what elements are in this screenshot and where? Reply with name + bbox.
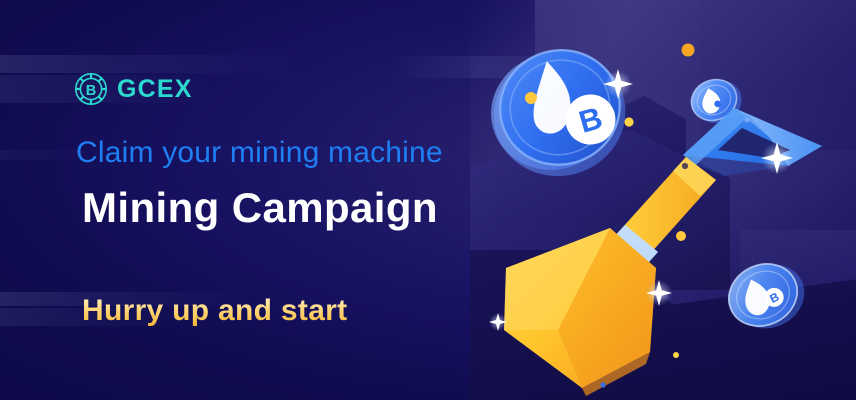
headline-eyebrow: Claim your mining machine bbox=[76, 136, 443, 170]
brand-lockup: B GCEX bbox=[74, 72, 193, 106]
accent-dot bbox=[682, 44, 695, 57]
sparkle-icon bbox=[761, 142, 793, 174]
large-bitcoin-coin: B bbox=[477, 35, 640, 192]
small-bitcoin-coin-bottom: B bbox=[718, 250, 815, 342]
brand-name: GCEX bbox=[117, 77, 193, 102]
page-title: Mining Campaign bbox=[82, 184, 438, 232]
accent-dot bbox=[525, 92, 537, 104]
mining-campaign-banner: B GCEX Claim your mining machine Mining … bbox=[0, 0, 856, 400]
sparkle-icon bbox=[489, 313, 507, 331]
headline-cta-text: Hurry up and start bbox=[82, 294, 347, 328]
mining-shovel-illustration: B B bbox=[470, 0, 856, 400]
shovel-blade bbox=[504, 228, 656, 396]
accent-dot bbox=[673, 352, 679, 358]
accent-dot bbox=[676, 231, 686, 241]
bitcoin-coin-icon: B bbox=[74, 72, 108, 106]
accent-dot bbox=[624, 117, 633, 126]
svg-text:B: B bbox=[86, 83, 96, 99]
background-light-band bbox=[0, 55, 300, 73]
sparkle-icon bbox=[646, 280, 672, 306]
accent-dot bbox=[745, 118, 750, 123]
accent-dot bbox=[600, 382, 605, 387]
